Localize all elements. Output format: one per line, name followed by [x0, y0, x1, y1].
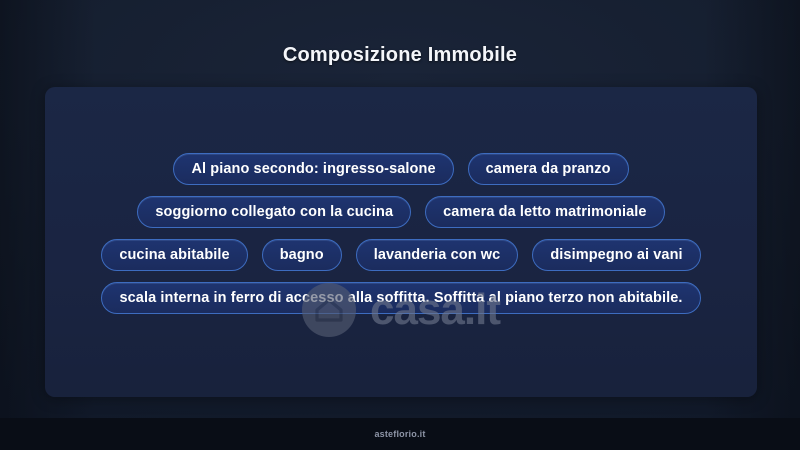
pill-row: soggiorno collegato con la cucina camera…: [45, 196, 757, 228]
pill-tag[interactable]: camera da letto matrimoniale: [425, 196, 664, 228]
pill-tag[interactable]: camera da pranzo: [468, 153, 629, 185]
pill-row: Al piano secondo: ingresso-salone camera…: [45, 153, 757, 185]
footer-label: asteflorio.it: [374, 429, 425, 439]
pill-tag[interactable]: lavanderia con wc: [356, 239, 519, 271]
pill-row: scala interna in ferro di accesso alla s…: [45, 282, 757, 314]
pill-tag[interactable]: Al piano secondo: ingresso-salone: [173, 153, 453, 185]
pill-tag[interactable]: disimpegno ai vani: [532, 239, 700, 271]
composition-card: Al piano secondo: ingresso-salone camera…: [45, 87, 757, 397]
pill-tag[interactable]: bagno: [262, 239, 342, 271]
pill-row: cucina abitabile bagno lavanderia con wc…: [45, 239, 757, 271]
pill-tag[interactable]: cucina abitabile: [101, 239, 247, 271]
page-title: Composizione Immobile: [0, 44, 800, 67]
footer-band: asteflorio.it: [0, 418, 800, 450]
pill-list: Al piano secondo: ingresso-salone camera…: [45, 87, 757, 325]
pill-tag[interactable]: scala interna in ferro di accesso alla s…: [101, 282, 700, 314]
slide-canvas: Composizione Immobile Al piano secondo: …: [0, 0, 800, 450]
pill-tag[interactable]: soggiorno collegato con la cucina: [137, 196, 411, 228]
